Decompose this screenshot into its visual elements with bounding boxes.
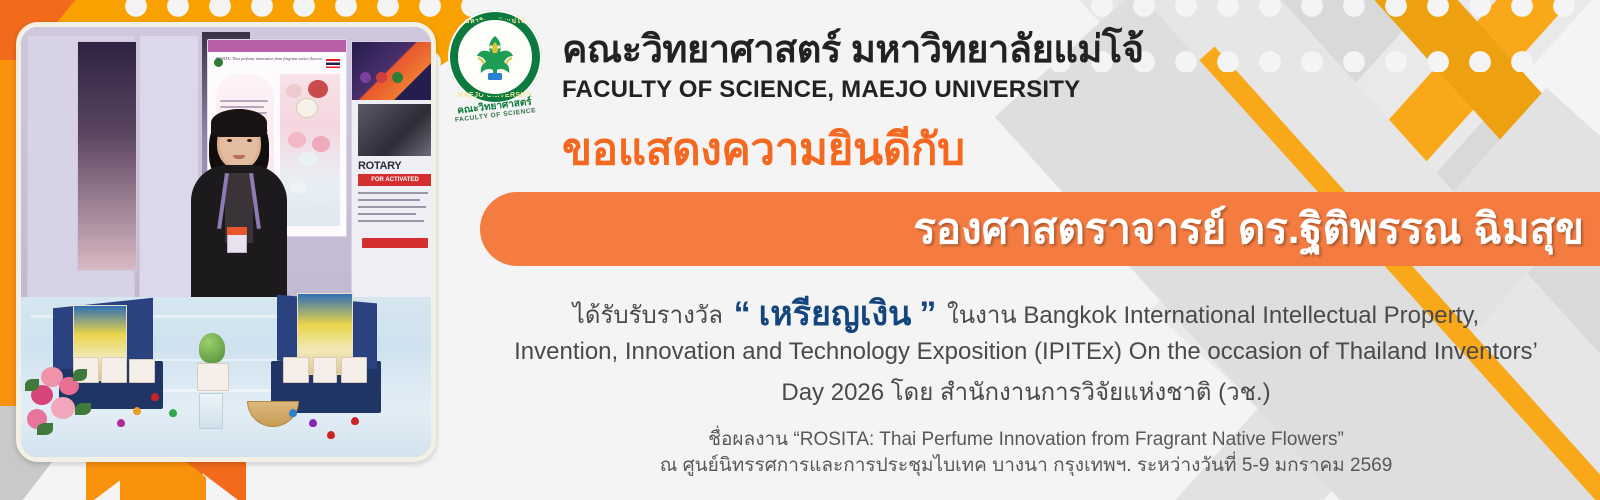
award-prefix: ได้รับรับรางวัล: [573, 302, 723, 329]
photo-scene: ROSITA: Thai perfume innovation from fra…: [21, 27, 431, 457]
board-header-graphic: [352, 42, 436, 100]
gem-2: [133, 407, 141, 415]
person-eye-right: [247, 139, 252, 142]
decorative-green-vase: [199, 333, 225, 363]
seal-faculty-label: คณะวิทยาศาสตร์ FACULTY OF SCIENCE: [441, 96, 548, 126]
perfume-bottle-center: [199, 393, 223, 429]
congratulation-headline: ขอแสดงความยินดีกับ: [562, 114, 965, 184]
gem-5: [309, 419, 317, 427]
board-contact-button: [362, 238, 428, 248]
person-eye-left: [227, 139, 232, 142]
gem-6: [327, 431, 335, 439]
poster-header-band: [208, 40, 346, 52]
perfume-box-l2: [101, 357, 127, 383]
organization-name-thai: คณะวิทยาศาสตร์ มหาวิทยาลัยแม่โจ้: [562, 18, 1144, 79]
gem-3: [169, 409, 177, 417]
gem-1: [117, 419, 125, 427]
decor-left-edge-bar: [0, 60, 16, 440]
honoree-name: รองศาสตราจารย์ ดร.ฐิติพรรณ ฉิมสุข: [913, 196, 1584, 262]
award-event-prefix: ในงาน Bangkok International Intellectual…: [947, 302, 1479, 329]
organization-name-english: FACULTY OF SCIENCE, MAEJO UNIVERSITY: [562, 76, 1080, 104]
board-rotary-label: ROTARY: [358, 160, 401, 172]
honoree-name-pill: รองศาสตราจารย์ ดร.ฐิติพรรณ ฉิมสุข: [480, 192, 1600, 266]
perfume-box-r2: [313, 357, 337, 383]
neighbouring-booth-board: ROTARY FOR ACTIVATED: [351, 41, 436, 341]
board-badge-3: [392, 72, 403, 83]
award-close-quote: ”: [915, 295, 940, 333]
board-activated-label: FOR ACTIVATED: [358, 174, 432, 186]
event-line-3: Day 2026 โดย สำนักงานการวิจัยแห่งชาติ (ว…: [452, 372, 1600, 411]
rose-bouquet: [25, 363, 103, 441]
person-hair-front: [211, 109, 267, 137]
perfume-box-r1: [283, 357, 309, 383]
content-column: มหาวิทยาลัยแม่โจ้ MAEJO UNIVERSITY คณะวิ…: [452, 0, 1600, 500]
booth-panel-poster-image: [77, 41, 137, 271]
award-name: เหรียญเงิน: [755, 295, 916, 333]
naga-emblem-icon: [470, 32, 520, 84]
perfume-box-r3: [341, 357, 367, 383]
board-badge-1: [360, 72, 371, 83]
gem-8: [289, 409, 297, 417]
board-badge-2: [376, 72, 387, 83]
gem-7: [351, 417, 359, 425]
perfume-box-l3: [129, 359, 155, 383]
board-machine-photo: [358, 104, 432, 156]
event-line-2: Invention, Innovation and Technology Exp…: [452, 338, 1600, 366]
perfume-box-center: [197, 363, 229, 391]
venue-line: ณ ศูนย์นิทรรศการและการประชุมไบเทค บางนา …: [452, 450, 1600, 480]
gem-4: [151, 393, 159, 401]
person-badge-header: [227, 227, 247, 235]
award-line: ได้รับรับรางวัล “เหรียญเงิน” ในงาน Bangk…: [452, 290, 1600, 339]
event-photo: ROSITA: Thai perfume innovation from fra…: [16, 22, 436, 462]
congratulation-banner: ROSITA: Thai perfume innovation from fra…: [0, 0, 1600, 500]
poster-title: ROSITA: Thai perfume innovation from fra…: [216, 56, 340, 61]
maejo-university-logo: มหาวิทยาลัยแม่โจ้ MAEJO UNIVERSITY คณะวิ…: [436, 6, 554, 132]
award-open-quote: “: [730, 295, 755, 333]
poster-product-images: [280, 74, 340, 226]
